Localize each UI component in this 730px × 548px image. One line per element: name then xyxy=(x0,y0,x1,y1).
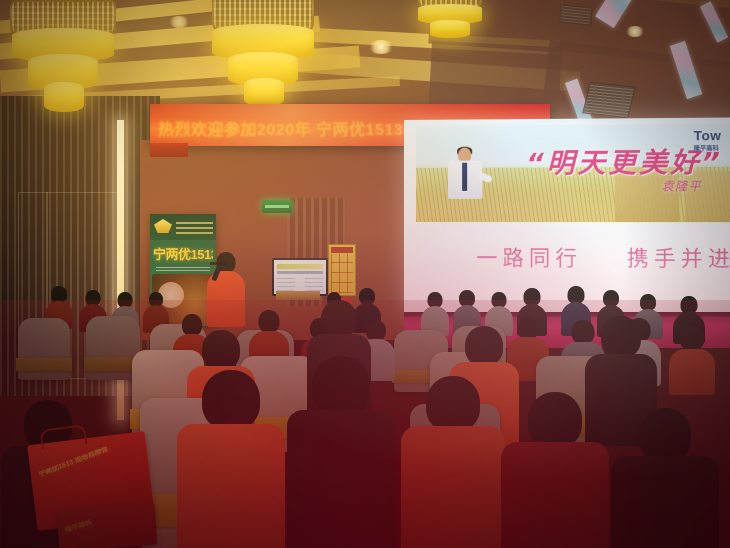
table-row xyxy=(18,318,70,380)
slide-logo-subtext: 隆平高科 xyxy=(694,143,730,152)
exit-sign xyxy=(262,200,292,213)
slide-signature: 袁隆平 xyxy=(661,177,702,194)
scientist-figure xyxy=(448,148,484,208)
conference-hall-photo: 热烈欢迎参加2020年 宁两优1513 现场观摩暨技术交流会 “明天更美好” 袁… xyxy=(0,0,730,548)
pendant-lantern-right xyxy=(418,0,482,46)
list-item xyxy=(668,326,716,392)
presenter-glasses xyxy=(210,262,226,265)
banner-end-fold xyxy=(150,143,188,157)
pendant-lantern-left xyxy=(10,0,116,118)
list-item xyxy=(286,356,396,548)
slide-photo-rice-field: “明天更美好” 袁隆平 Tow 隆平高科 xyxy=(416,124,730,222)
recessed-downlight xyxy=(625,26,645,37)
list-item xyxy=(400,376,506,548)
figure-necktie xyxy=(462,163,467,191)
slide-logo-text: Tow xyxy=(694,128,722,144)
recessed-downlight xyxy=(168,16,190,28)
list-item xyxy=(610,408,720,548)
monitor-stand xyxy=(276,291,320,300)
hvac-vent xyxy=(559,4,593,25)
hvac-vent xyxy=(582,82,636,118)
list-item xyxy=(420,292,450,334)
recessed-downlight xyxy=(368,40,394,54)
list-item xyxy=(176,370,286,548)
list-item xyxy=(500,392,610,548)
slide-logo: Tow 隆平高科 xyxy=(694,128,730,153)
pendant-lantern-center xyxy=(212,0,314,112)
tote-bag: 隆平高科 xyxy=(57,503,158,548)
rollup-headline: 宁两优1513 xyxy=(153,246,213,264)
